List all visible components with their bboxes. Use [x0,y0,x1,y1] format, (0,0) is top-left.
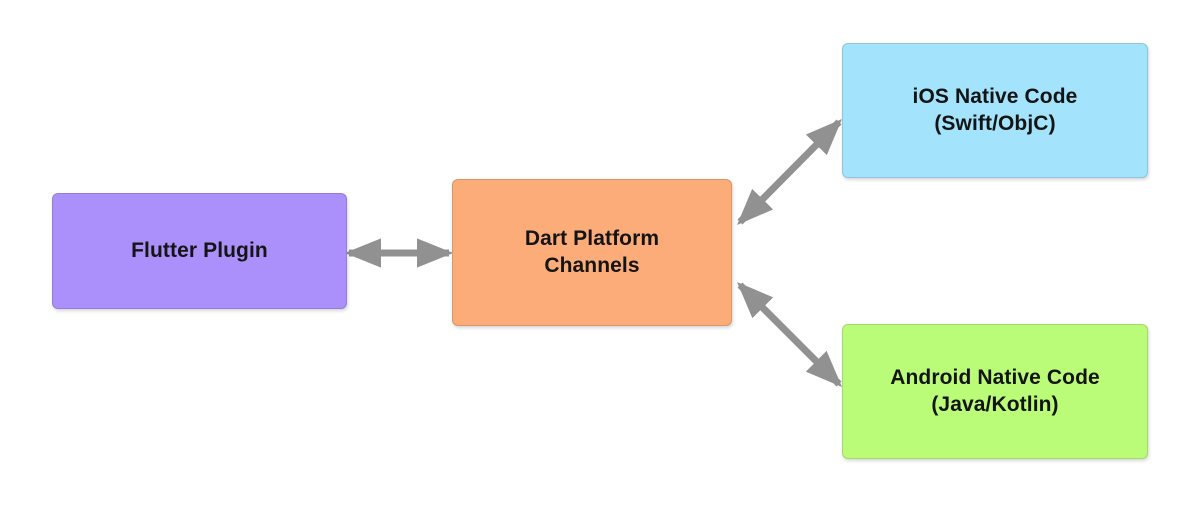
node-ios-native-code[interactable]: iOS Native Code (Swift/ObjC) [842,43,1148,178]
node-flutter-plugin[interactable]: Flutter Plugin [52,193,347,309]
node-dart-platform-channels[interactable]: Dart Platform Channels [452,179,732,326]
connector-dart-platform-channels-to-android-native-code [740,285,839,384]
node-dart-platform-channels-label: Dart Platform Channels [515,226,669,280]
diagram-canvas: Flutter Plugin Dart Platform Channels iO… [0,0,1200,510]
node-android-native-code[interactable]: Android Native Code (Java/Kotlin) [842,324,1148,459]
node-flutter-plugin-label: Flutter Plugin [121,238,278,265]
node-android-native-code-label: Android Native Code (Java/Kotlin) [880,365,1110,419]
node-ios-native-code-label: iOS Native Code (Swift/ObjC) [903,84,1088,138]
connector-dart-platform-channels-to-ios-native-code [740,122,839,222]
